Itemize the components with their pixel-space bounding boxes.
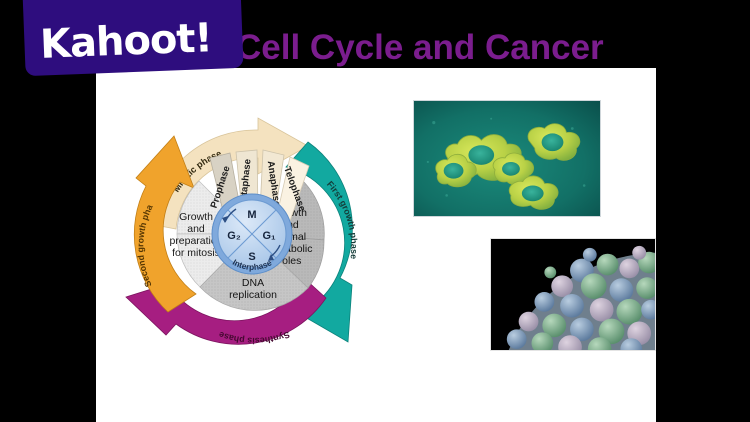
core-label-m: M: [247, 209, 256, 221]
sector-g2-line-2: and: [187, 223, 205, 235]
interphase-core: M G₁ S G₂ Interphase: [212, 194, 292, 274]
slide-canvas: Kahoot! Cell Cycle and Cancer: [0, 0, 750, 422]
tumor-cells-sem: [490, 238, 656, 351]
kahoot-wordmark: Kahoot!: [39, 6, 241, 76]
cancer-cells-micrograph: [413, 100, 601, 217]
core-label-g1: G₁: [262, 230, 276, 242]
sector-g2-line-1: Growth: [179, 211, 213, 223]
core-label-s: S: [248, 251, 255, 263]
sector-s-line-2: replication: [229, 289, 277, 301]
page-title: Cell Cycle and Cancer: [236, 26, 604, 70]
core-label-g2: G₂: [227, 230, 241, 242]
sector-s-line-1: DNA: [242, 277, 264, 289]
sector-g2-line-4: for mitosis: [172, 247, 220, 259]
cell-cycle-diagram: Mitotic phase First growth phase Synthes…: [112, 112, 402, 347]
